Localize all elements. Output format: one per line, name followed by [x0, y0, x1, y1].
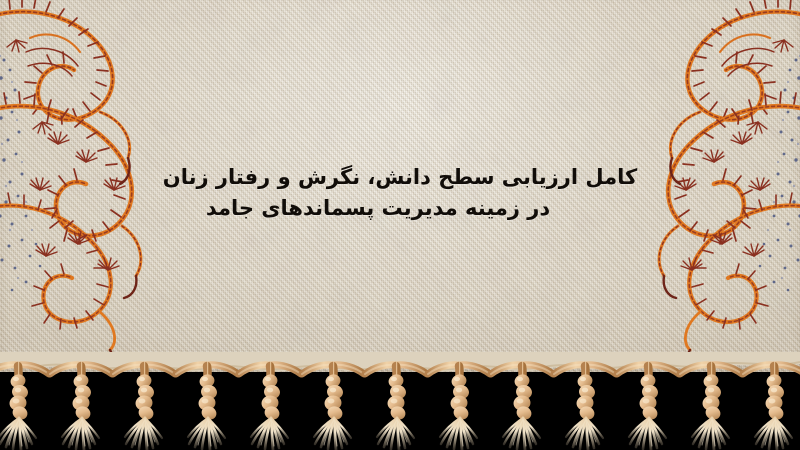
linen-fabric-panel: کامل ارزیابی سطح دانش، نگرش و رفتار زنان…	[0, 0, 800, 372]
tassel-row	[0, 365, 800, 450]
title-slide: کامل ارزیابی سطح دانش، نگرش و رفتار زنان…	[0, 0, 800, 450]
inner-veins	[26, 34, 80, 76]
title-line-1: کامل ارزیابی سطح دانش، نگرش و رفتار زنان	[0, 162, 800, 193]
slide-title: کامل ارزیابی سطح دانش، نگرش و رفتار زنان…	[0, 162, 800, 224]
title-line-2: در زمینه مدیریت پسماندهای جامد	[0, 193, 800, 224]
comb-stitches	[0, 0, 108, 124]
fan-stitches	[7, 40, 125, 270]
